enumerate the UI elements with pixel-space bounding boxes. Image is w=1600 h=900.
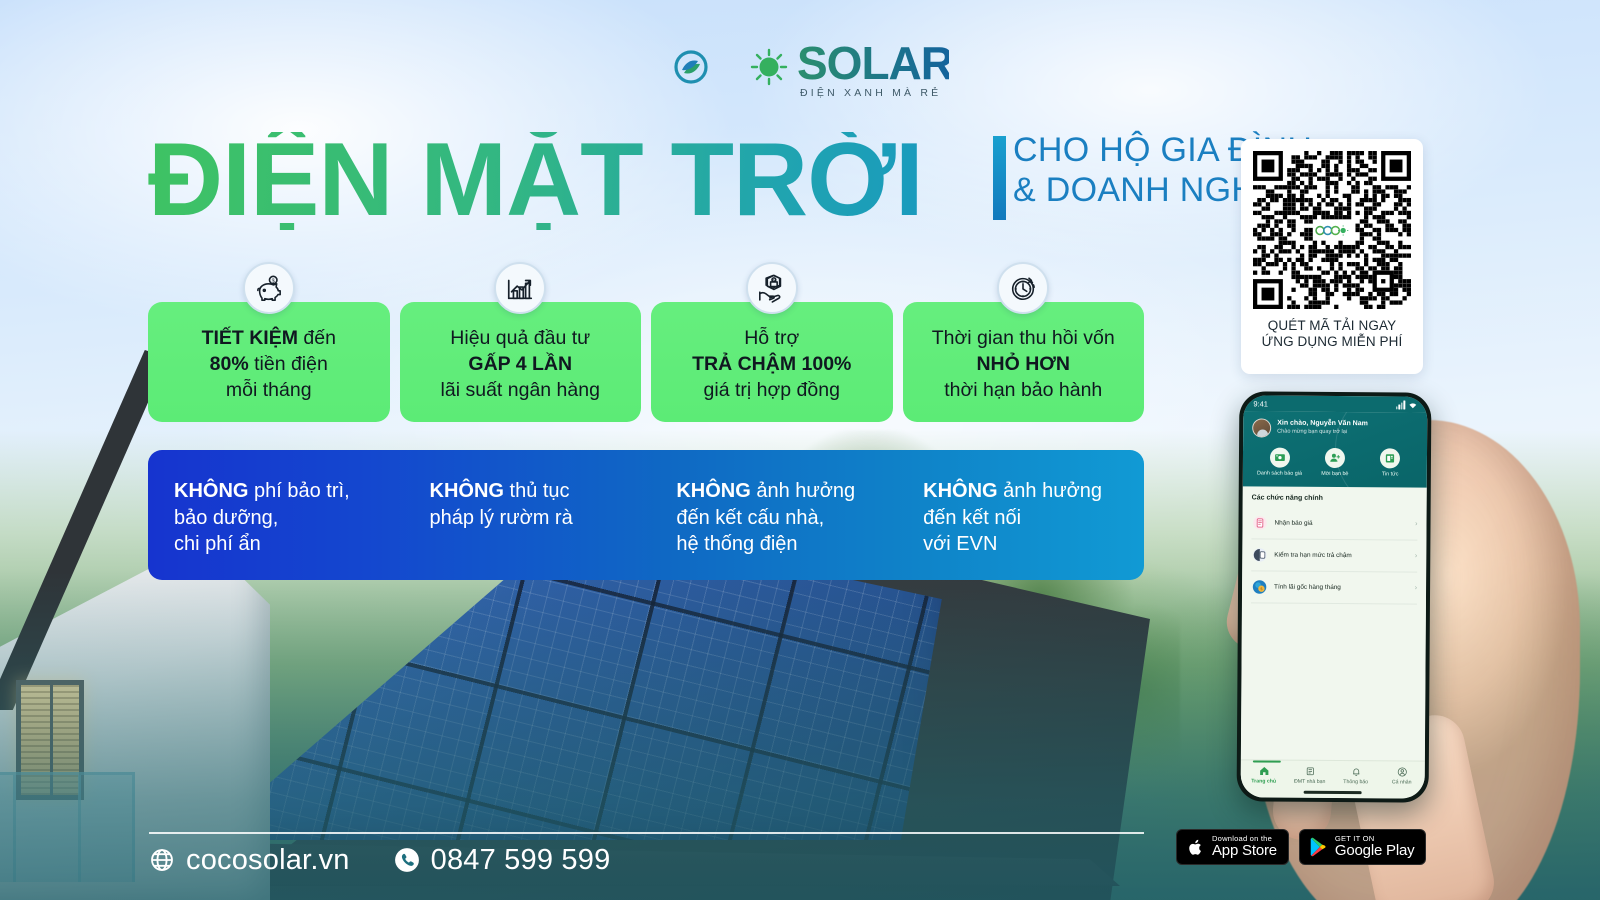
blue-bar-segment: KHÔNG ảnh hưởng đến kết nối với EVN [897, 450, 1144, 580]
quick-action-label: Tin tức [1367, 471, 1413, 478]
feature-line3: thời hạn bảo hành [932, 377, 1115, 403]
phone-quick-actions: Danh sách báo giá Mời bạn bè Tin tức [1252, 447, 1418, 478]
list-item[interactable]: Nhận báo giá › [1251, 507, 1417, 540]
blue-bar-segment: KHÔNG ảnh hưởng đến kết cấu nhà, hệ thốn… [650, 450, 897, 580]
phone-status-bar: 9:41 [1243, 395, 1427, 412]
feature-line3: giá trị hợp đồng [692, 377, 851, 403]
qr-caption-line1: QUÉT MÃ TẢI NGAY [1262, 318, 1403, 334]
google-play-logo-icon [1309, 836, 1328, 858]
website-label: cocosolar.vn [186, 844, 350, 877]
blue-line2: đến kết cấu nhà, [676, 505, 893, 532]
stopwatch-icon [997, 262, 1049, 314]
blue-bold: KHÔNG [676, 480, 750, 502]
blue-rest: ảnh hưởng [998, 480, 1102, 502]
qr-caption-line2: ỨNG DỤNG MIỄN PHÍ [1262, 334, 1403, 350]
apple-logo-icon [1186, 836, 1205, 858]
blue-line2: bảo dưỡng, [174, 505, 400, 532]
logo-tagline: ĐIỆN XANH MÀ RẺ [800, 86, 941, 99]
phone-user-row: Xin chào, Nguyễn Văn Nam Chào mừng bạn q… [1252, 418, 1418, 438]
feature-line3: mỗi tháng [202, 377, 336, 403]
blue-bold: KHÔNG [430, 480, 504, 502]
nav-item-notifications[interactable]: Thông báo [1333, 766, 1379, 785]
feature-card-text: Thời gian thu hồi vốn NHỎ HƠN thời hạn b… [932, 325, 1115, 404]
nav-item-solar-house[interactable]: ĐMT nhà bạn [1287, 766, 1333, 785]
feature-card-list: $ TIẾT KIỆM đến 80% tiền điện mỗi tháng [148, 302, 1144, 422]
status-time: 9:41 [1253, 399, 1268, 408]
blue-bar-segment: KHÔNG thủ tục pháp lý rườm rà [404, 450, 651, 580]
qr-code[interactable] [1253, 151, 1411, 309]
feature-rest: tiền điện [249, 353, 328, 375]
phone-icon [394, 847, 420, 873]
phone-main-functions: Các chức năng chính Nhận báo giá › Kiểm … [1241, 486, 1427, 761]
footer-divider [149, 832, 1144, 834]
list-item[interactable]: $ Tính lãi gốc hàng tháng › [1251, 571, 1417, 604]
quick-action[interactable]: Mời bạn bè [1312, 448, 1358, 478]
greeting-subtext: Chào mừng bạn quay trở lại [1277, 429, 1368, 437]
app-store-text: Download on the App Store [1212, 835, 1277, 858]
feature-bold: GẤP 4 LẦN [468, 353, 572, 375]
logo-mark: SOLAR ĐIỆN XANH MÀ RẺ [629, 26, 949, 106]
hero-headline-row: ĐIỆN MẶT TRỜI CHO HỘ GIA ĐÌNH & DOANH NG… [148, 132, 1168, 240]
chevron-right-icon: › [1415, 552, 1417, 559]
receive-quote-icon [1252, 515, 1267, 530]
section-title: Các chức năng chính [1252, 494, 1418, 502]
blue-line3: hệ thống điện [676, 531, 893, 558]
bell-icon [1350, 766, 1361, 777]
avatar [1252, 418, 1271, 437]
list-item[interactable]: Kiểm tra hạn mức trả chậm › [1251, 539, 1417, 572]
feature-rest: Hỗ trợ [744, 327, 799, 349]
feature-card[interactable]: Thời gian thu hồi vốn NHỎ HƠN thời hạn b… [903, 302, 1145, 422]
feature-line3: lãi suất ngân hàng [441, 377, 600, 403]
app-store-badge[interactable]: Download on the App Store [1176, 829, 1289, 865]
list-item-label: Nhận báo giá [1274, 519, 1408, 527]
feature-card-text: Hiệu quả đầu tư GẤP 4 LẦN lãi suất ngân … [441, 325, 600, 404]
interest-calc-icon: $ [1252, 579, 1267, 594]
invite-friend-icon [1325, 448, 1345, 468]
growth-chart-icon [494, 262, 546, 314]
app-store-large: App Store [1212, 843, 1277, 858]
feature-card-text: TIẾT KIỆM đến 80% tiền điện mỗi tháng [202, 325, 336, 404]
qr-caption: QUÉT MÃ TẢI NGAY ỨNG DỤNG MIỄN PHÍ [1262, 318, 1403, 351]
quick-action-label: Danh sách báo giá [1256, 470, 1302, 477]
feature-card[interactable]: $ Hỗ trợ TRẢ CHẬM 100% giá trị hợp đồng [651, 302, 893, 422]
qr-download-card[interactable]: QUÉT MÃ TẢI NGAY ỨNG DỤNG MIỄN PHÍ [1241, 139, 1423, 374]
benefits-blue-bar: KHÔNG phí bảo trì, bảo dưỡng, chi phí ẩn… [148, 450, 1144, 580]
nav-item-profile[interactable]: Cá nhân [1379, 766, 1425, 785]
nav-label: Trang chủ [1241, 778, 1287, 784]
feature-bold: 80% [210, 353, 249, 375]
phone-mockup: 9:41 Xin chào, Nguyễn Văn Nam Chào mừng … [1237, 391, 1432, 802]
website-contact[interactable]: cocosolar.vn [149, 844, 350, 877]
qr-center-logo [1313, 224, 1351, 237]
logo-wordmark: SOLAR [797, 37, 949, 89]
blue-line3: chi phí ẩn [174, 531, 400, 558]
quick-action[interactable]: Tin tức [1367, 448, 1413, 478]
chevron-right-icon: › [1415, 520, 1417, 527]
feature-rest: Hiệu quả đầu tư [450, 327, 590, 349]
globe-icon [149, 847, 175, 873]
feature-card[interactable]: Hiệu quả đầu tư GẤP 4 LẦN lãi suất ngân … [400, 302, 642, 422]
nav-item-home[interactable]: Trang chủ [1241, 765, 1287, 784]
app-store-badges: Download on the App Store GET IT ON Goog… [1176, 829, 1426, 865]
phone-label: 0847 599 599 [431, 844, 611, 877]
feature-card[interactable]: $ TIẾT KIỆM đến 80% tiền điện mỗi tháng [148, 302, 390, 422]
blue-rest: ảnh hưởng [751, 480, 855, 502]
phone-hero-header: Xin chào, Nguyễn Văn Nam Chào mừng bạn q… [1243, 411, 1428, 487]
piggy-bank-icon: $ [243, 262, 295, 314]
blue-bold: KHÔNG [923, 480, 997, 502]
feature-bold: TRẢ CHẬM 100% [692, 353, 851, 375]
blue-bar-segment: KHÔNG phí bảo trì, bảo dưỡng, chi phí ẩn [148, 450, 404, 580]
google-play-text: GET IT ON Google Play [1335, 835, 1415, 858]
feature-card-text: Hỗ trợ TRẢ CHẬM 100% giá trị hợp đồng [692, 325, 851, 404]
blue-rest: thủ tục [504, 480, 570, 502]
quick-action-label: Mời bạn bè [1312, 471, 1358, 478]
solar-house-icon [1304, 766, 1315, 777]
home-indicator [1304, 791, 1362, 794]
footer-contact: cocosolar.vn 0847 599 599 [149, 838, 610, 882]
credit-limit-icon [1252, 547, 1267, 562]
feature-bold: NHỎ HƠN [976, 353, 1070, 375]
blue-line2: pháp lý rườm rà [430, 505, 647, 532]
blue-bold: KHÔNG [174, 480, 248, 502]
google-play-badge[interactable]: GET IT ON Google Play [1299, 829, 1427, 865]
blue-line2: đến kết nối [923, 505, 1140, 532]
list-item-label: Kiểm tra hạn mức trả chậm [1274, 551, 1408, 559]
blue-line3: với EVN [923, 531, 1140, 558]
phone-bottom-nav: Trang chủ ĐMT nhà bạn Thông báo Cá nhân [1241, 759, 1425, 798]
house-in-hand-icon: $ [746, 262, 798, 314]
nav-label: ĐMT nhà bạn [1287, 779, 1333, 785]
feature-bold: TIẾT KIỆM [202, 327, 298, 349]
list-item-label: Tính lãi gốc hàng tháng [1274, 583, 1408, 591]
feature-rest: đến [298, 327, 336, 349]
home-icon [1258, 765, 1269, 776]
signal-wifi-icons [1396, 400, 1417, 409]
phone-screen: 9:41 Xin chào, Nguyễn Văn Nam Chào mừng … [1241, 395, 1428, 798]
blue-rest: phí bảo trì, [248, 480, 349, 502]
quick-action[interactable]: Danh sách báo giá [1256, 447, 1302, 477]
person-icon [1396, 766, 1407, 777]
poster-canvas: SOLAR ĐIỆN XANH MÀ RẺ ĐIỆN MẶT TRỜI CHO … [0, 0, 1600, 900]
cocosolar-logo[interactable]: SOLAR ĐIỆN XANH MÀ RẺ [629, 26, 949, 106]
google-play-large: Google Play [1335, 843, 1415, 858]
headline-divider-bar [993, 136, 1006, 220]
phone-contact[interactable]: 0847 599 599 [394, 844, 611, 877]
chevron-right-icon: › [1415, 584, 1417, 591]
quote-list-icon [1270, 448, 1290, 468]
nav-label: Cá nhân [1379, 779, 1425, 785]
news-icon [1380, 448, 1400, 468]
feature-rest: Thời gian thu hồi vốn [932, 327, 1115, 349]
nav-label: Thông báo [1333, 779, 1379, 785]
